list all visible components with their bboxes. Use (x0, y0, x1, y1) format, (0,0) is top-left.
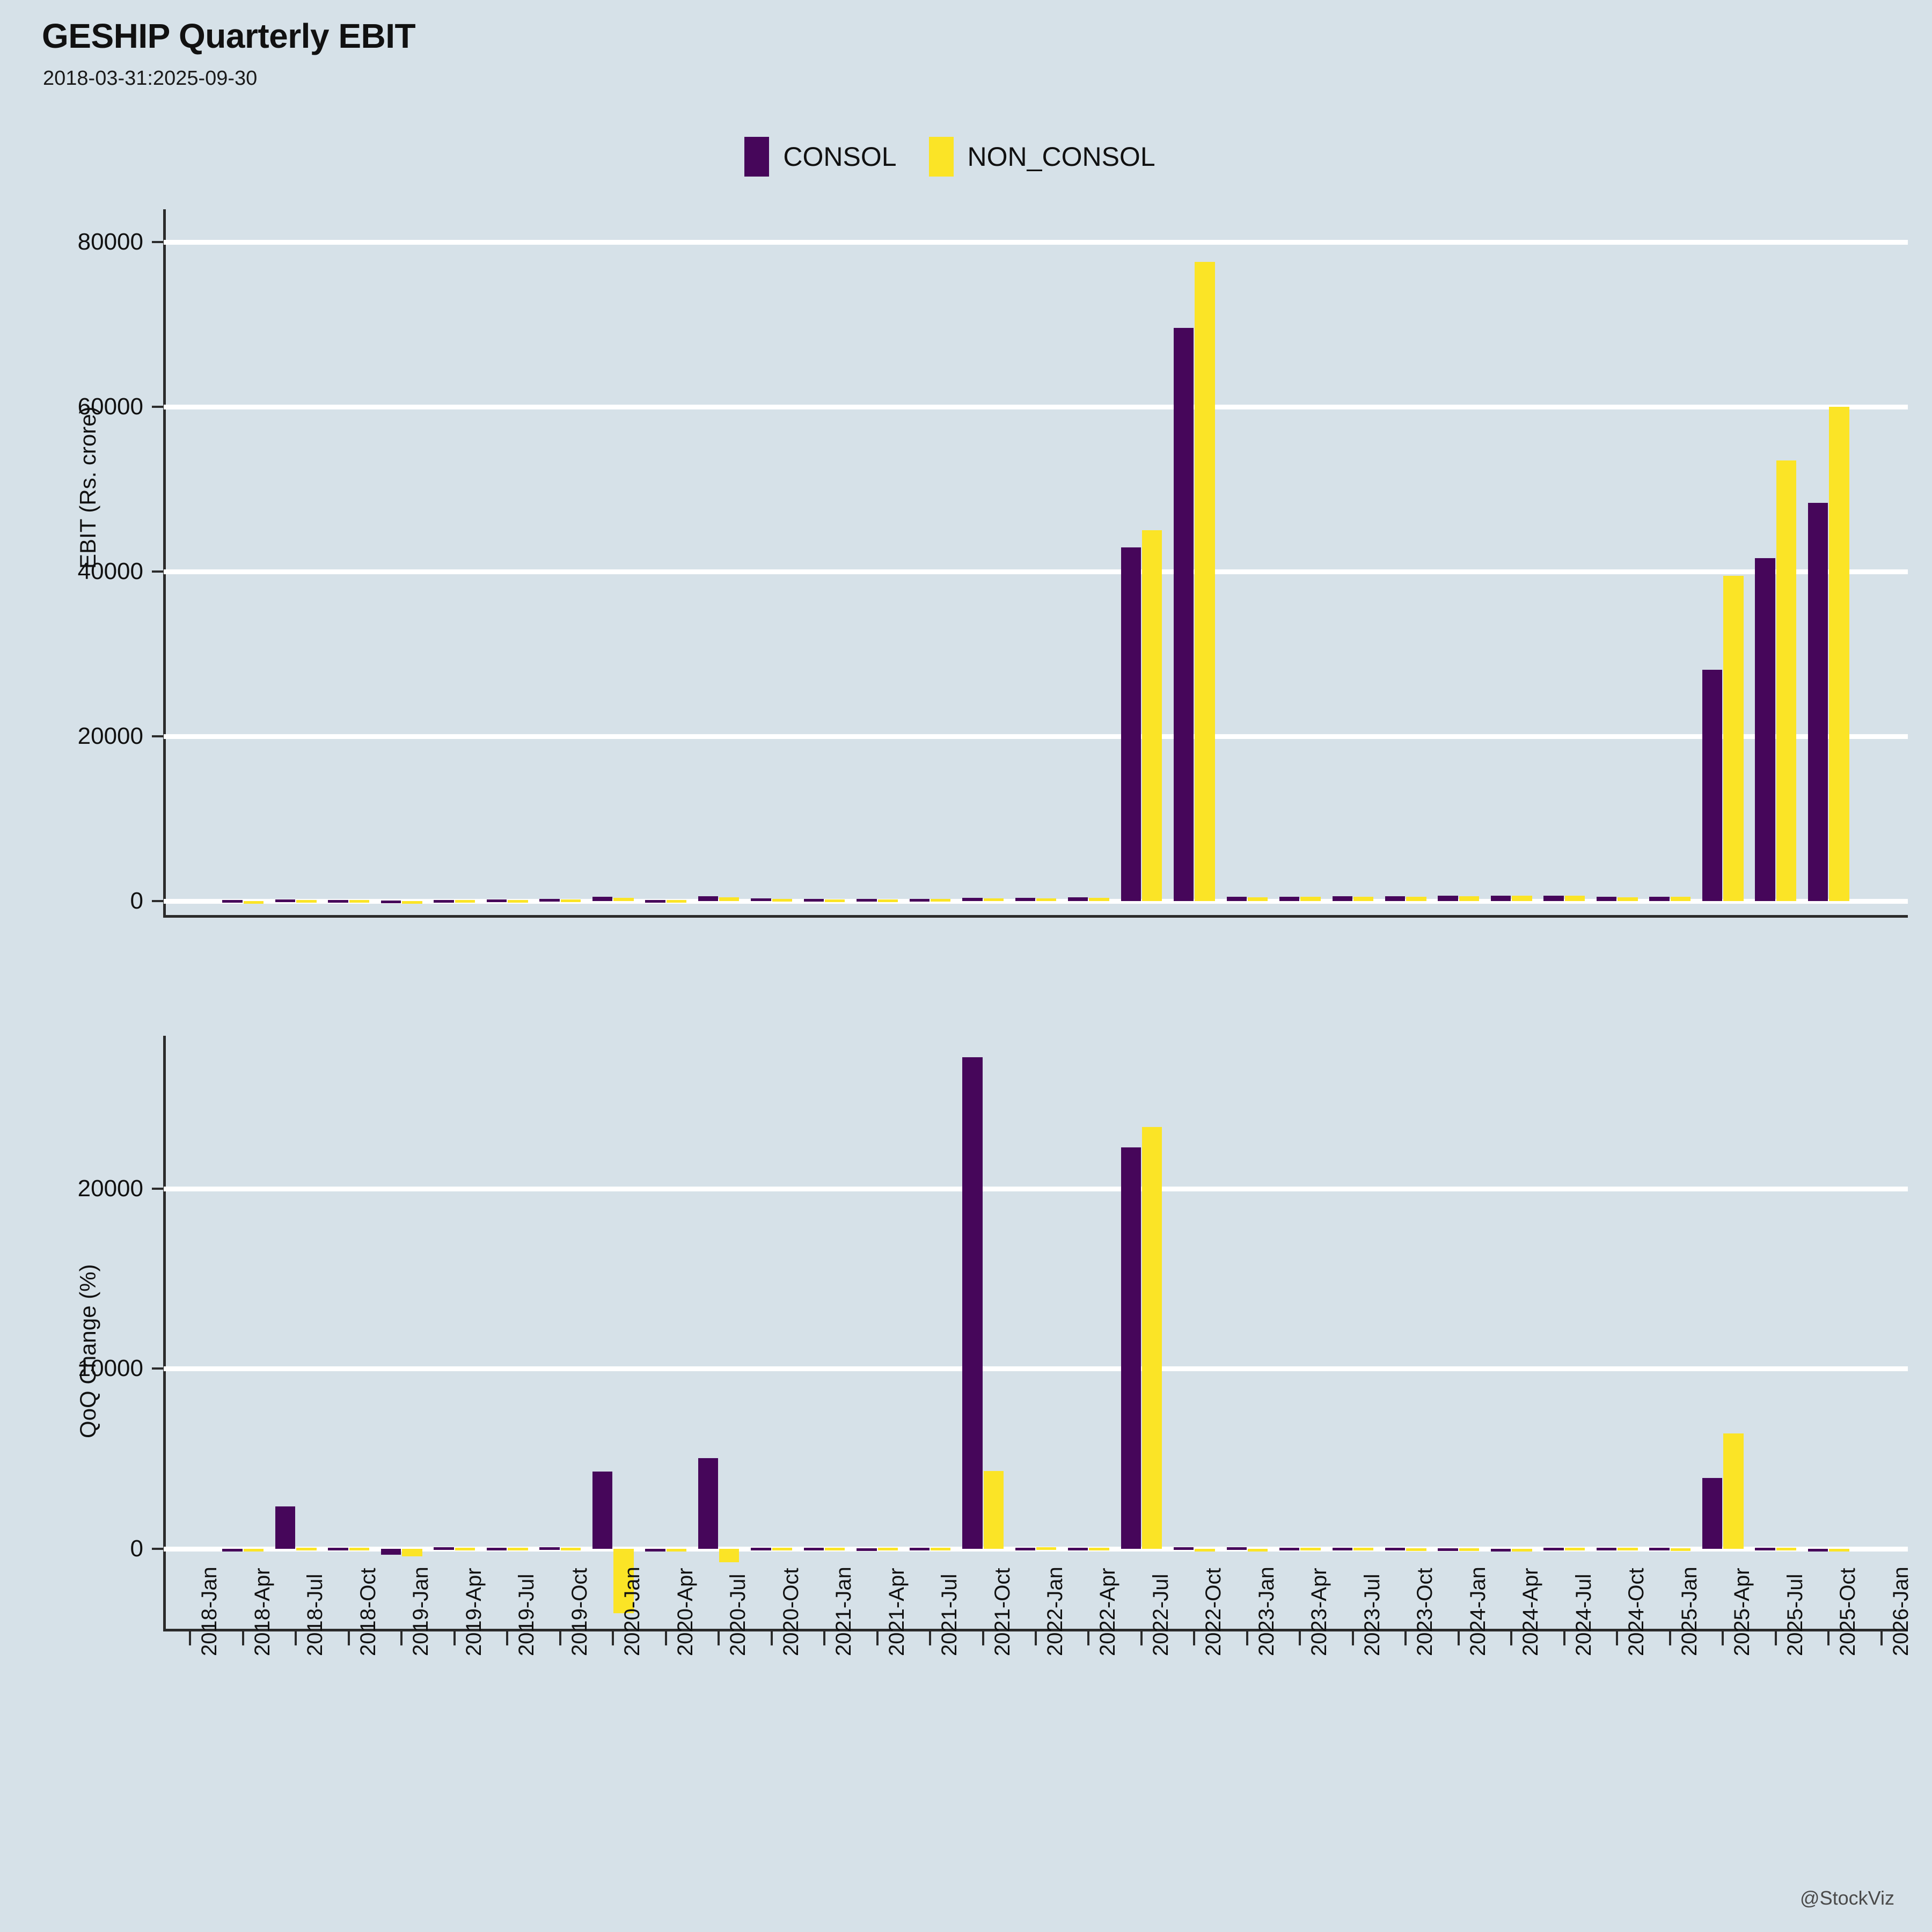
x-tick-mark (348, 1631, 350, 1645)
x-tick-mark (189, 1631, 191, 1645)
bar-consol-2023-jan (1227, 1547, 1247, 1550)
bar-non_consol-2018-apr (244, 1549, 264, 1552)
bar-consol-2021-oct (962, 1057, 982, 1548)
x-tick-mark (1510, 1631, 1512, 1645)
y-tick-mark (152, 735, 164, 737)
bar-non_consol-2025-jul (1776, 460, 1796, 902)
x-axis-tick-label: 2021-Apr (885, 1568, 909, 1656)
bar-consol-2023-apr (1279, 1548, 1299, 1550)
bar-consol-2023-oct (1385, 896, 1405, 901)
bar-consol-2019-oct (539, 1547, 559, 1550)
bar-consol-2022-jul (1121, 1147, 1141, 1549)
bar-non_consol-2018-jul (296, 1548, 316, 1550)
x-axis-tick-label: 2023-Apr (1307, 1568, 1331, 1656)
y-tick-mark (152, 1367, 164, 1370)
x-tick-mark (1827, 1631, 1829, 1645)
bar-non_consol-2024-jul (1565, 896, 1585, 901)
x-axis-tick-label: 2021-Jan (832, 1567, 856, 1656)
x-tick-mark (1722, 1631, 1724, 1645)
bar-consol-2019-jan (381, 1549, 401, 1555)
date-range-subtitle: 2018-03-31:2025-09-30 (43, 67, 257, 90)
bar-non_consol-2023-jul (1353, 1548, 1373, 1550)
x-tick-mark (1352, 1631, 1354, 1645)
bar-non_consol-2022-jul (1142, 1127, 1162, 1549)
x-tick-mark (1880, 1631, 1883, 1645)
x-axis-tick-label: 2023-Oct (1413, 1568, 1437, 1656)
x-axis-tick-label: 2018-Jan (197, 1567, 222, 1656)
x-axis-tick-label: 2022-Jan (1043, 1567, 1067, 1656)
bar-non_consol-2024-oct (1618, 1548, 1637, 1550)
bar-non_consol-2024-jan (1459, 1548, 1479, 1551)
bar-consol-2020-jul (698, 896, 718, 901)
legend-swatch-icon (744, 137, 769, 177)
x-tick-mark (1246, 1631, 1248, 1645)
bar-non_consol-2021-jul (931, 1548, 950, 1550)
gridline (164, 1187, 1908, 1191)
x-axis-tick-label: 2019-Oct (568, 1568, 592, 1656)
y-tick-mark (152, 900, 164, 902)
x-tick-mark (1299, 1631, 1301, 1645)
x-tick-mark (876, 1631, 879, 1645)
bar-consol-2024-apr (1491, 896, 1511, 902)
bar-consol-2025-jul (1755, 1548, 1775, 1550)
x-tick-mark (559, 1631, 561, 1645)
bar-consol-2018-oct (328, 1548, 348, 1550)
legend-label: NON_CONSOL (968, 141, 1155, 172)
x-tick-mark (295, 1631, 297, 1645)
bar-non_consol-2019-jan (402, 901, 422, 904)
x-tick-mark (929, 1631, 931, 1645)
x-tick-mark (982, 1631, 984, 1645)
bar-non_consol-2025-apr (1723, 576, 1743, 901)
bar-consol-2022-jan (1015, 1548, 1035, 1550)
x-tick-mark (506, 1631, 508, 1645)
bar-non_consol-2020-apr (667, 900, 686, 903)
bar-non_consol-2019-apr (455, 1548, 475, 1550)
x-axis-tick-label: 2020-Oct (779, 1568, 803, 1656)
bar-non_consol-2020-jul (719, 1549, 739, 1562)
bar-consol-2025-jan (1649, 1548, 1669, 1550)
watermark: @StockViz (1800, 1887, 1894, 1909)
bar-non_consol-2023-jan (1248, 1549, 1268, 1552)
bar-consol-2025-jan (1649, 897, 1669, 902)
x-tick-mark (1563, 1631, 1565, 1645)
bar-non_consol-2023-apr (1300, 897, 1320, 901)
x-tick-mark (1669, 1631, 1671, 1645)
bar-consol-2020-oct (751, 898, 771, 901)
bar-non_consol-2024-jan (1459, 896, 1479, 901)
bar-non_consol-2021-jul (931, 899, 950, 902)
legend-entry-consol[interactable]: CONSOL (744, 137, 928, 177)
bar-consol-2018-apr (222, 900, 242, 903)
bar-non_consol-2019-jul (508, 1548, 528, 1550)
bar-non_consol-2020-oct (772, 1548, 792, 1550)
x-axis-tick-label: 2025-Jul (1783, 1574, 1807, 1656)
x-axis-tick-label: 2024-Jul (1572, 1574, 1596, 1656)
x-axis-tick-label: 2019-Jul (515, 1574, 539, 1656)
bar-non_consol-2023-jan (1248, 897, 1268, 901)
gridline (164, 1547, 1908, 1552)
bar-non_consol-2018-oct (349, 1548, 369, 1550)
bar-non_consol-2018-jul (296, 900, 316, 903)
bar-consol-2019-jul (487, 1548, 507, 1550)
gridline (164, 1366, 1908, 1371)
bar-non_consol-2019-jan (402, 1549, 422, 1557)
bar-non_consol-2021-jan (825, 1548, 845, 1550)
bar-consol-2021-jul (910, 1548, 930, 1550)
x-axis-tick-label: 2024-Apr (1519, 1568, 1543, 1656)
x-tick-mark (612, 1631, 614, 1645)
bar-consol-2019-jul (487, 899, 507, 902)
y-tick-mark (152, 241, 164, 243)
x-axis-tick-label: 2025-Jan (1678, 1567, 1702, 1656)
x-axis-tick-label: 2019-Apr (462, 1568, 486, 1656)
x-tick-mark (1087, 1631, 1089, 1645)
bar-consol-2019-jan (381, 901, 401, 903)
bar-non_consol-2020-jul (719, 897, 739, 901)
x-axis-tick-label: 2018-Apr (251, 1568, 275, 1656)
bar-consol-2025-apr (1702, 1478, 1722, 1548)
bar-non_consol-2022-oct (1195, 1549, 1214, 1552)
y-axis-spine (163, 1036, 166, 1631)
y-tick-mark (152, 1548, 164, 1550)
chart-legend: CONSOLNON_CONSOL (0, 137, 1932, 177)
bar-consol-2025-apr (1702, 670, 1722, 901)
x-tick-mark (453, 1631, 456, 1645)
bar-consol-2024-jan (1438, 896, 1458, 901)
bar-non_consol-2024-oct (1618, 897, 1637, 901)
bar-non_consol-2023-jul (1353, 897, 1373, 902)
x-axis-tick-label: 2023-Jan (1255, 1567, 1279, 1656)
bar-consol-2021-jan (804, 899, 824, 902)
y-axis-tick-label: 20000 (78, 1175, 143, 1202)
qoq-chart-panel: 01000020000 (164, 1036, 1908, 1631)
legend-swatch-icon (929, 137, 954, 177)
y-tick-mark (152, 1188, 164, 1190)
bar-consol-2023-jul (1333, 1548, 1352, 1550)
y-axis-tick-label: 0 (130, 1535, 143, 1562)
x-axis-tick-label: 2020-Jul (726, 1574, 750, 1656)
page-title: GESHIP Quarterly EBIT (42, 16, 415, 56)
bar-consol-2020-jan (592, 1472, 612, 1549)
bar-non_consol-2024-apr (1512, 896, 1532, 901)
y-tick-mark (152, 570, 164, 573)
bar-consol-2021-jul (910, 899, 930, 902)
bar-consol-2024-jul (1543, 896, 1563, 901)
x-axis-tick-label: 2018-Oct (356, 1568, 380, 1656)
x-axis-tick-label: 2021-Oct (991, 1568, 1015, 1656)
bar-consol-2020-apr (645, 900, 665, 903)
bar-consol-2018-jul (275, 899, 295, 902)
x-tick-mark (1140, 1631, 1143, 1645)
bar-consol-2018-oct (328, 900, 348, 903)
bar-consol-2022-oct (1174, 328, 1194, 901)
x-tick-mark (1775, 1631, 1777, 1645)
y-axis-spine (163, 209, 166, 918)
bar-non_consol-2025-oct (1829, 407, 1849, 901)
bar-consol-2019-apr (434, 900, 453, 903)
bar-non_consol-2022-apr (1089, 898, 1109, 901)
x-axis-tick-label: 2020-Apr (674, 1568, 698, 1656)
bar-non_consol-2021-apr (878, 1548, 898, 1550)
x-axis-tick-label: 2026-Jan (1889, 1567, 1913, 1656)
bar-consol-2024-apr (1491, 1549, 1511, 1552)
bar-non_consol-2022-oct (1195, 262, 1214, 901)
bar-non_consol-2023-apr (1300, 1548, 1320, 1550)
bar-consol-2021-oct (962, 898, 982, 901)
legend-label: CONSOL (783, 141, 896, 172)
x-axis-tick-label: 2022-Apr (1096, 1568, 1120, 1656)
bar-non_consol-2024-jul (1565, 1548, 1585, 1550)
x-tick-mark (1193, 1631, 1195, 1645)
bar-non_consol-2023-oct (1406, 1548, 1426, 1551)
bar-consol-2022-oct (1174, 1547, 1194, 1550)
x-tick-mark (1616, 1631, 1618, 1645)
bar-consol-2022-apr (1068, 897, 1088, 901)
x-tick-mark (718, 1631, 720, 1645)
bar-non_consol-2019-apr (455, 900, 475, 903)
x-tick-mark (771, 1631, 773, 1645)
bar-non_consol-2021-oct (984, 1471, 1004, 1549)
gridline (164, 734, 1908, 739)
bar-consol-2024-jul (1543, 1548, 1563, 1550)
gridline (164, 569, 1908, 574)
x-tick-mark (1404, 1631, 1407, 1645)
bar-consol-2022-apr (1068, 1548, 1088, 1550)
x-axis-tick-label: 2021-Jul (938, 1574, 962, 1656)
y-axis-label-ebit: EBIT (Rs. crore) (75, 406, 101, 569)
x-tick-mark (1458, 1631, 1460, 1645)
bar-non_consol-2021-oct (984, 898, 1004, 901)
bar-non_consol-2022-jul (1142, 530, 1162, 901)
bar-consol-2022-jul (1121, 547, 1141, 901)
bar-consol-2018-apr (222, 1549, 242, 1552)
x-axis-spine (163, 915, 1908, 918)
bar-consol-2020-jan (592, 897, 612, 901)
bar-consol-2023-apr (1279, 897, 1299, 902)
bar-consol-2025-jul (1755, 558, 1775, 901)
bar-non_consol-2019-jul (508, 900, 528, 903)
bar-non_consol-2021-apr (878, 899, 898, 902)
bar-non_consol-2025-jul (1776, 1548, 1796, 1550)
x-axis-tick-label: 2022-Oct (1202, 1568, 1226, 1656)
bar-consol-2024-oct (1597, 897, 1616, 901)
x-tick-mark (823, 1631, 825, 1645)
bar-non_consol-2020-apr (667, 1549, 686, 1552)
bar-non_consol-2021-jan (825, 899, 845, 902)
bar-non_consol-2020-oct (772, 899, 792, 902)
y-axis-tick-label: 80000 (78, 229, 143, 255)
bar-consol-2019-apr (434, 1547, 453, 1550)
bar-non_consol-2018-apr (244, 901, 264, 904)
y-axis-label-qoq: QoQ Change (%) (75, 1264, 101, 1438)
bar-consol-2020-oct (751, 1548, 771, 1550)
bar-consol-2020-apr (645, 1549, 665, 1552)
bar-consol-2023-oct (1385, 1548, 1405, 1550)
bar-non_consol-2018-oct (349, 900, 369, 903)
y-axis-tick-label: 20000 (78, 723, 143, 750)
bar-consol-2021-apr (857, 1548, 876, 1551)
gridline (164, 240, 1908, 245)
bar-non_consol-2025-jan (1671, 1548, 1690, 1551)
x-axis-tick-label: 2020-Jan (620, 1567, 645, 1656)
x-tick-mark (400, 1631, 402, 1645)
bar-consol-2022-jan (1015, 898, 1035, 901)
bar-non_consol-2019-oct (561, 1548, 581, 1550)
bar-consol-2021-jan (804, 1548, 824, 1550)
gridline (164, 405, 1908, 409)
x-axis-tick-label: 2024-Oct (1624, 1568, 1649, 1656)
bar-consol-2021-apr (857, 899, 876, 902)
x-axis-tick-label: 2024-Jan (1466, 1567, 1490, 1656)
bar-consol-2020-jul (698, 1458, 718, 1549)
bar-non_consol-2022-apr (1089, 1548, 1109, 1550)
bar-consol-2025-oct (1808, 503, 1828, 902)
x-axis-tick-label: 2025-Oct (1836, 1568, 1860, 1656)
y-tick-mark (152, 406, 164, 408)
x-axis-tick-label: 2022-Jul (1149, 1574, 1173, 1656)
x-tick-mark (1035, 1631, 1037, 1645)
y-axis-tick-label: 0 (130, 888, 143, 914)
gridline (164, 899, 1908, 904)
bar-non_consol-2023-oct (1406, 897, 1426, 901)
ebit-chart-panel: 020000400006000080000 (164, 209, 1908, 918)
bar-consol-2024-oct (1597, 1548, 1616, 1550)
bar-non_consol-2020-jan (613, 898, 633, 901)
bar-non_consol-2024-apr (1512, 1549, 1532, 1552)
bar-non_consol-2025-oct (1829, 1549, 1849, 1552)
x-axis-tick-label: 2018-Jul (303, 1574, 327, 1656)
x-axis-tick-label: 2025-Apr (1730, 1568, 1754, 1656)
bar-consol-2024-jan (1438, 1548, 1458, 1551)
x-axis-tick-label: 2019-Jan (409, 1567, 433, 1656)
bar-non_consol-2022-jan (1036, 898, 1056, 902)
bar-non_consol-2025-apr (1723, 1433, 1743, 1548)
bar-consol-2023-jul (1333, 896, 1352, 901)
bar-non_consol-2025-jan (1671, 897, 1690, 901)
x-axis-tick-label: 2023-Jul (1360, 1574, 1385, 1656)
bar-consol-2018-jul (275, 1506, 295, 1549)
x-tick-mark (665, 1631, 667, 1645)
bar-consol-2019-oct (539, 899, 559, 902)
bar-non_consol-2019-oct (561, 899, 581, 902)
x-tick-mark (242, 1631, 244, 1645)
legend-entry-non_consol[interactable]: NON_CONSOL (929, 137, 1188, 177)
bar-consol-2023-jan (1227, 897, 1247, 901)
bar-consol-2025-oct (1808, 1549, 1828, 1552)
bar-non_consol-2022-jan (1036, 1547, 1056, 1550)
